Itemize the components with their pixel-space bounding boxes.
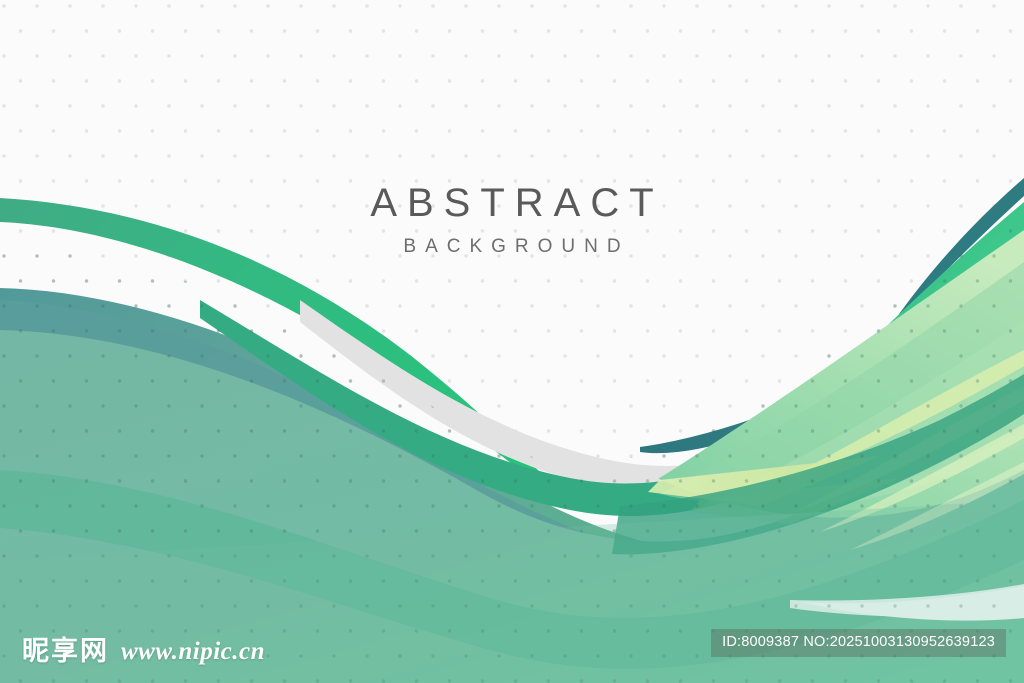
abstract-background-canvas: ABSTRACT BACKGROUND 昵享网 www.nipic.cn ID:… — [0, 0, 1024, 683]
watermark: 昵享网 www.nipic.cn — [22, 638, 265, 665]
watermark-url: www.nipic.cn — [121, 639, 265, 664]
abstract-wave-artwork — [0, 0, 1024, 683]
watermark-site-name: 昵享网 — [22, 638, 109, 665]
image-id-badge: ID:8009387 NO:20251003130952639123 — [711, 629, 1006, 657]
